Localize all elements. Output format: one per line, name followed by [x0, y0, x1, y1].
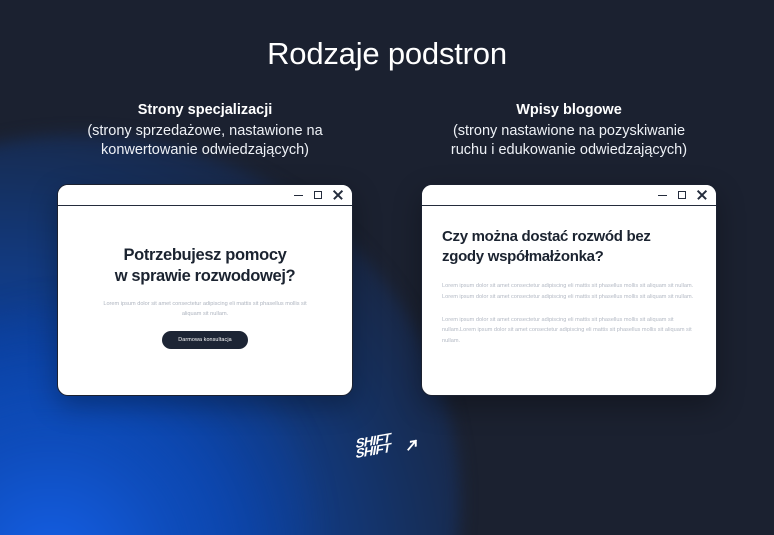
- minimize-icon[interactable]: [294, 195, 303, 197]
- article-paragraph-1: Lorem ipsum dolor sit amet consectetur a…: [442, 281, 696, 302]
- cta-button-darmowa-konsultacja[interactable]: Darmowa konsultacja: [162, 331, 247, 349]
- window-titlebar-left[interactable]: [58, 185, 352, 206]
- maximize-icon[interactable]: [678, 191, 686, 199]
- slide-content: Rodzaje podstron Strony specjalizacji (s…: [0, 0, 774, 535]
- hero-title-line2: w sprawie rozwodowej?: [115, 267, 296, 285]
- browser-window-right: Czy można dostać rozwód bez zgody współm…: [421, 184, 717, 396]
- article-section: Czy można dostać rozwód bez zgody współm…: [422, 206, 716, 395]
- article-title-line1: Czy można dostać rozwód bez: [442, 228, 651, 245]
- column-strony-specjalizacji: Strony specjalizacji (strony sprzedażowe…: [57, 101, 353, 396]
- browser-window-left: Potrzebujesz pomocy w sprawie rozwodowej…: [57, 184, 353, 396]
- window-viewport-right: Czy można dostać rozwód bez zgody współm…: [422, 206, 716, 395]
- article-paragraph-2: Lorem ipsum dolor sit amet consectetur a…: [442, 315, 696, 346]
- column-subheading-right-line2: ruchu i edukowanie odwiedzających): [451, 142, 687, 158]
- article-title-line2: zgody współmałżonka?: [442, 248, 604, 265]
- hero-title: Potrzebujesz pomocy w sprawie rozwodowej…: [115, 245, 296, 287]
- hero-section: Potrzebujesz pomocy w sprawie rozwodowej…: [58, 206, 352, 395]
- arrow-up-right-icon: [406, 438, 419, 453]
- maximize-icon[interactable]: [314, 191, 322, 199]
- hero-title-line1: Potrzebujesz pomocy: [124, 246, 287, 264]
- column-subheading-left-line1: (strony sprzedażowe, nastawione na: [87, 123, 322, 139]
- close-icon[interactable]: [333, 190, 343, 200]
- column-subheading-left: (strony sprzedażowe, nastawione na konwe…: [57, 122, 353, 161]
- footer-logo-wrap: SHIFT SHIFT: [0, 432, 774, 458]
- column-heading-right: Wpisy blogowe: [421, 101, 717, 120]
- article-title: Czy można dostać rozwód bez zgody współm…: [442, 227, 696, 266]
- column-heading-left: Strony specjalizacji: [57, 101, 353, 120]
- window-viewport-left: Potrzebujesz pomocy w sprawie rozwodowej…: [58, 206, 352, 395]
- shift-logo: SHIFT SHIFT: [356, 432, 418, 458]
- column-wpisy-blogowe: Wpisy blogowe (strony nastawione na pozy…: [421, 101, 717, 396]
- hero-body-text: Lorem ipsum dolor sit amet consectetur a…: [99, 300, 311, 320]
- window-titlebar-right[interactable]: [422, 185, 716, 206]
- close-icon[interactable]: [697, 190, 707, 200]
- column-subheading-left-line2: konwertowanie odwiedzających): [101, 142, 309, 158]
- columns-container: Strony specjalizacji (strony sprzedażowe…: [0, 101, 774, 396]
- minimize-icon[interactable]: [658, 195, 667, 197]
- page-title: Rodzaje podstron: [0, 0, 774, 72]
- column-subheading-right-line1: (strony nastawione na pozyskiwanie: [453, 123, 685, 139]
- column-subheading-right: (strony nastawione na pozyskiwanie ruchu…: [421, 122, 717, 161]
